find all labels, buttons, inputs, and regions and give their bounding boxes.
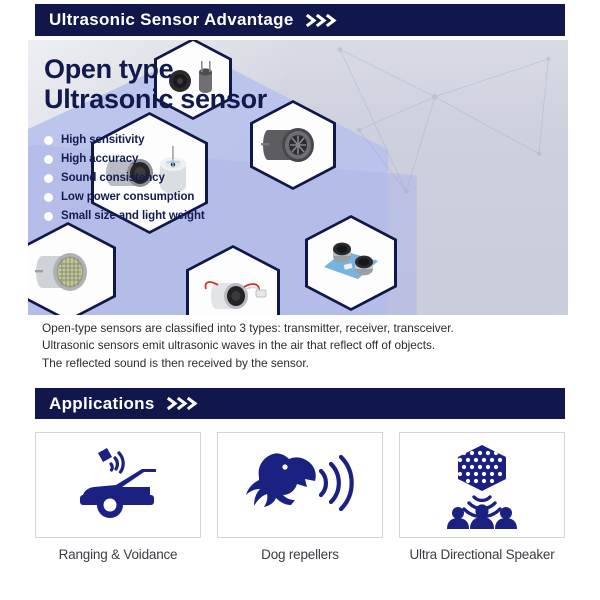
dog-head-sound-waves-icon (239, 443, 361, 527)
bullet-icon (44, 174, 53, 183)
feature-label: High accuracy (61, 153, 138, 165)
directional-speaker-audience-icon (426, 441, 538, 529)
applications-title: Applications (49, 394, 155, 414)
infographic-page: Ultrasonic Sensor Advantage (0, 0, 600, 600)
application-card-ranging-voidance[interactable]: Ranging & Voidance (35, 432, 201, 562)
application-thumbnail (217, 432, 383, 538)
hero-title-line2: Ultrasonic sensor (44, 84, 294, 114)
application-thumbnail (399, 432, 565, 538)
feature-label: Small size and light weight (61, 210, 205, 222)
hero-title-line1: Open type (44, 54, 294, 84)
description-line-1: Open-type sensors are classified into 3 … (42, 320, 562, 337)
hero-banner: Open type Ultrasonic sensor High sensiti… (28, 40, 568, 315)
application-caption: Ranging & Voidance (35, 547, 201, 562)
feature-label: Sound consistency (61, 172, 165, 184)
ultrasonic-sensor-wired-icon (196, 269, 270, 315)
list-item: High accuracy (44, 153, 294, 165)
bullet-icon (44, 212, 53, 221)
list-item: High sensitivity (44, 134, 294, 146)
feature-label: Low power consumption (61, 191, 194, 203)
hero-feature-list: High sensitivity High accuracy Sound con… (44, 134, 294, 222)
triple-chevron-right-icon (167, 396, 201, 411)
section-header-applications: Applications (35, 388, 565, 419)
application-card-list: Ranging & Voidance Dog repellers (35, 432, 565, 562)
bullet-icon (44, 193, 53, 202)
section-header-advantage: Ultrasonic Sensor Advantage (35, 4, 565, 36)
application-thumbnail (35, 432, 201, 538)
feature-label: High sensitivity (61, 134, 144, 146)
advantage-title: Ultrasonic Sensor Advantage (49, 10, 294, 30)
description-line-3: The reflected sound is then received by … (42, 355, 562, 372)
hero-text-block: Open type Ultrasonic sensor High sensiti… (44, 54, 294, 229)
triple-chevron-right-icon (306, 13, 340, 28)
ultrasonic-module-pcb-icon (316, 237, 386, 289)
description-text: Open-type sensors are classified into 3 … (42, 320, 562, 372)
application-caption: Ultra Directional Speaker (399, 547, 565, 562)
application-card-ultra-directional-speaker[interactable]: Ultra Directional Speaker (399, 432, 565, 562)
car-parking-sensor-icon (58, 443, 178, 527)
network-lines-decoration (320, 40, 568, 211)
ultrasonic-sensor-mesh-icon (32, 246, 104, 298)
description-line-2: Ultrasonic sensors emit ultrasonic waves… (42, 337, 562, 354)
hex-photo-frame (308, 218, 394, 308)
list-item: Low power consumption (44, 191, 294, 203)
bullet-icon (44, 136, 53, 145)
list-item: Sound consistency (44, 172, 294, 184)
application-caption: Dog repellers (217, 547, 383, 562)
bullet-icon (44, 155, 53, 164)
list-item: Small size and light weight (44, 210, 294, 222)
application-card-dog-repellers[interactable]: Dog repellers (217, 432, 383, 562)
